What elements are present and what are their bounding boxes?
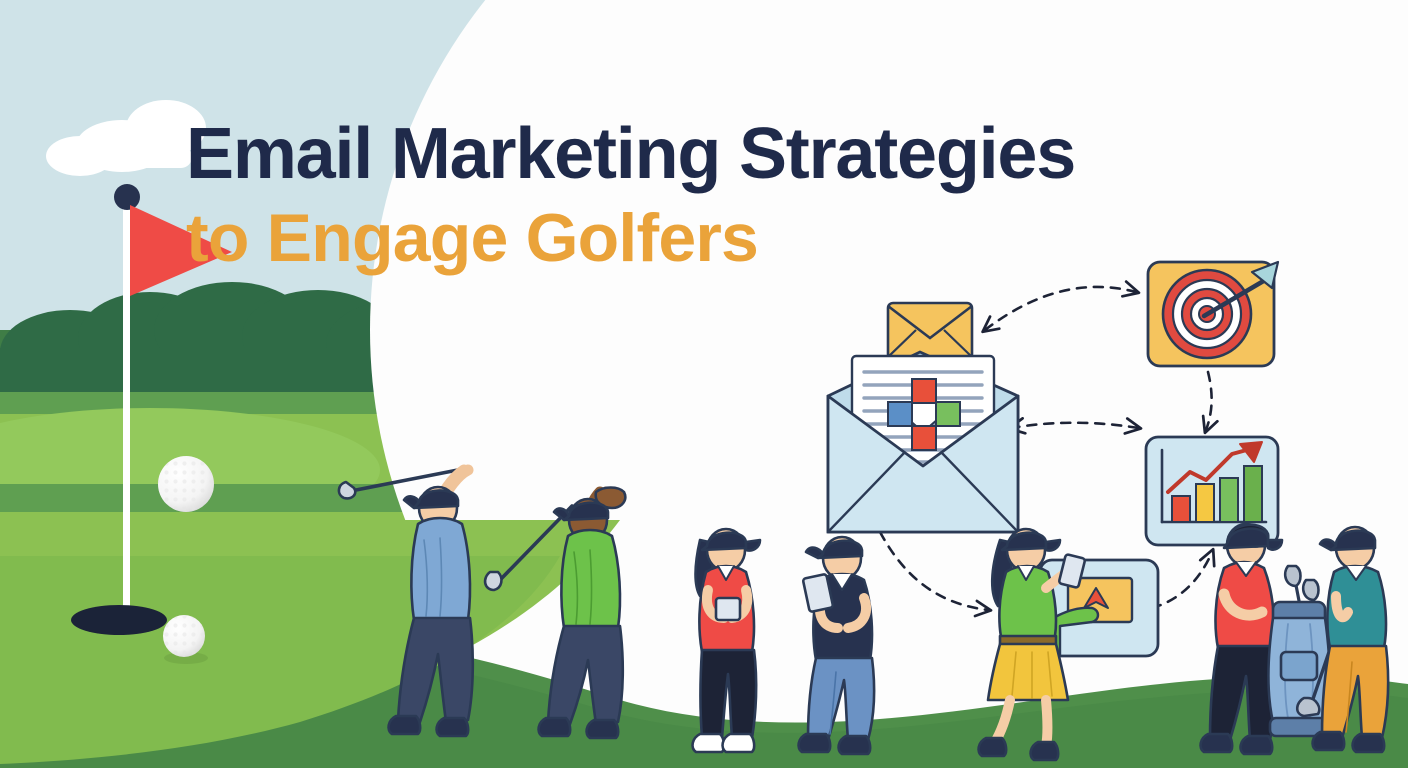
pants-6: [1210, 646, 1276, 740]
shoe-3-left: [693, 734, 725, 752]
cap-4: [818, 541, 862, 558]
cap-1: [414, 490, 458, 508]
shoe-2-right: [587, 720, 619, 738]
golfer-swinging-blue: [339, 468, 473, 736]
connector-target-to-chart: [1206, 372, 1212, 430]
node-right: [936, 402, 960, 426]
pants-4: [808, 658, 874, 740]
pants-7: [1322, 646, 1388, 738]
phone-4: [803, 574, 834, 612]
connector-chart-to-envelope: [1012, 423, 1138, 428]
pants-2: [548, 626, 623, 724]
chart-bar-1: [1172, 496, 1190, 522]
shoe-6-right: [1241, 736, 1273, 754]
shoe-6-left: [1201, 734, 1233, 752]
shoe-7-right: [1353, 734, 1385, 752]
shoe-2-left: [539, 718, 571, 736]
hero-title: Email Marketing Strategies to Engage Gol…: [186, 118, 1075, 272]
shoe-1-right: [437, 718, 469, 736]
shoe-4-right: [839, 736, 871, 754]
connector-envelope-to-golfer: [880, 532, 988, 610]
chart-bar-4: [1244, 466, 1262, 522]
chart-bar-3: [1220, 478, 1238, 522]
connector-envelope-to-target: [985, 287, 1136, 330]
shoe-1-left: [389, 716, 421, 734]
title-line-2: to Engage Golfers: [186, 204, 1075, 272]
title-line-1: Email Marketing Strategies: [186, 118, 1075, 190]
cap-5: [1002, 533, 1046, 550]
open-envelope-with-letter: [828, 352, 1018, 532]
pants-3: [701, 650, 757, 738]
cap-7: [1331, 531, 1375, 550]
shoe-4-left: [799, 734, 831, 752]
pants-1: [398, 618, 473, 722]
golfer-swinging-green: [485, 488, 625, 739]
shoe-3-right: [723, 734, 755, 752]
node-left: [888, 402, 912, 426]
node-top: [912, 379, 936, 403]
chart-bar-2: [1196, 484, 1214, 522]
node-bottom: [912, 426, 936, 450]
target-with-arrow-card: [1148, 262, 1278, 366]
hero-illustration: Email Marketing Strategies to Engage Gol…: [0, 0, 1408, 768]
skirt-5: [988, 644, 1068, 700]
cap-3: [702, 533, 746, 550]
phone-3: [716, 598, 740, 620]
connector-panel-to-golfer: [1152, 552, 1212, 608]
golfer-woman-phone-red: [693, 529, 760, 752]
shoe-5-right: [1031, 742, 1059, 760]
golfer-man-phone-navy: [799, 537, 875, 754]
shoe-7-left: [1313, 732, 1345, 750]
shoe-5-left: [979, 738, 1007, 756]
bag-pocket: [1281, 652, 1317, 680]
